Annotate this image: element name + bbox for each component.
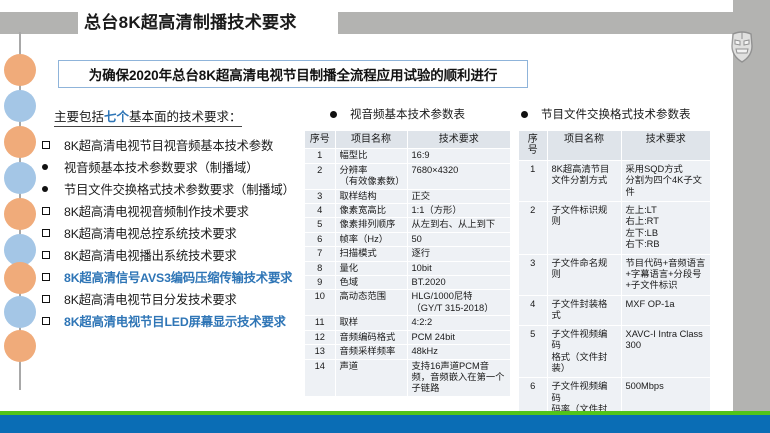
table-row: 12音频编码格式PCM 24bit <box>305 330 510 344</box>
cell-index: 11 <box>305 316 335 330</box>
cell-item-name: 取样结构 <box>335 189 407 203</box>
cell-index: 2 <box>519 202 547 255</box>
square-bullet-icon <box>42 229 64 237</box>
list-item[interactable]: 8K超高清信号AVS3编码压缩传输技术要求 <box>42 266 304 288</box>
square-bullet-icon <box>42 207 64 215</box>
table-row: 14声道支持16声道PCM音频，音频嵌入在第一个子链路 <box>305 359 510 396</box>
col-header: 序号 <box>305 131 335 149</box>
cell-index: 7 <box>305 247 335 261</box>
table-row: 10高动态范围HLG/1000尼特 （GY/T 315-2018） <box>305 290 510 316</box>
cell-item-name: 分辨率 （有效像素数） <box>335 163 407 189</box>
chain-circle-5 <box>4 198 36 230</box>
square-bullet-icon <box>42 141 64 149</box>
cell-item-name: 取样 <box>335 316 407 330</box>
header-bar-right <box>338 12 733 34</box>
bullet-list: 8K超高清电视节目视音频基本技术参数 视音频基本技术参数要求（制播域） 节目文件… <box>42 134 304 332</box>
cell-index: 6 <box>305 232 335 246</box>
statement-text: 为确保2020年总台8K超高清电视节目制播全流程应用试验的顺利进行 <box>59 61 527 87</box>
cell-item-name: 帧率（Hz） <box>335 232 407 246</box>
table-row: 4像素宽高比1:1（方形） <box>305 204 510 218</box>
cell-item-name: 量化 <box>335 261 407 275</box>
cell-item-name: 子文件标识规则 <box>547 202 621 255</box>
dot-bullet-icon <box>42 186 64 192</box>
table-row: 11取样4:2:2 <box>305 316 510 330</box>
cell-index: 13 <box>305 345 335 359</box>
cell-index: 3 <box>305 189 335 203</box>
table-header-row: 序号 项目名称 技术要求 <box>519 131 710 160</box>
cell-requirement: MXF OP-1a <box>621 295 710 325</box>
list-item[interactable]: 8K超高清电视节目LED屏幕显示技术要求 <box>42 310 304 332</box>
list-item-label: 节目文件交换格式技术参数要求（制播域） <box>64 180 295 198</box>
statement-box: 为确保2020年总台8K超高清电视节目制播全流程应用试验的顺利进行 <box>58 60 528 88</box>
cell-item-name: 音频采样频率 <box>335 345 407 359</box>
cell-index: 14 <box>305 359 335 396</box>
cell-requirement: BT.2020 <box>407 276 510 290</box>
table-row: 3取样结构正交 <box>305 189 510 203</box>
cell-index: 1 <box>305 149 335 163</box>
list-item-label: 8K超高清电视播出系统技术要求 <box>64 246 237 264</box>
chain-circle-9 <box>4 330 36 362</box>
list-item[interactable]: 8K超高清电视视音频制作技术要求 <box>42 200 304 222</box>
cell-item-name: 子文件封装格式 <box>547 295 621 325</box>
cell-index: 4 <box>305 204 335 218</box>
header-bar-left <box>0 12 78 34</box>
cell-item-name: 声道 <box>335 359 407 396</box>
table-row: 7扫描模式逐行 <box>305 247 510 261</box>
right-table: 序号 项目名称 技术要求 18K超高清节目 文件分割方式采用SQD方式 分割为四… <box>519 131 710 431</box>
list-item-label: 8K超高清电视节目视音频基本技术参数 <box>64 136 273 154</box>
cell-index: 10 <box>305 290 335 316</box>
right-table-caption: 节目文件交换格式技术参数表 <box>521 106 691 122</box>
lead-suffix: 基本面的技术要求： <box>129 110 242 124</box>
footer-blue-bar <box>0 415 770 433</box>
list-item-label: 8K超高清信号AVS3编码压缩传输技术要求 <box>64 268 292 286</box>
cell-requirement: 1:1（方形） <box>407 204 510 218</box>
chain-circle-3 <box>4 126 36 158</box>
table-row: 2子文件标识规则左上:LT 右上:RT 左下:LB 右下:RB <box>519 202 710 255</box>
slide-canvas: 总台8K超高清制播技术要求 为确保2020年总台8K超高清电视节目制播全流程应用… <box>0 0 770 433</box>
cell-requirement: PCM 24bit <box>407 330 510 344</box>
iron-mask-icon <box>726 28 758 64</box>
dot-bullet-icon <box>42 164 64 170</box>
table-row: 5像素排列顺序从左到右、从上到下 <box>305 218 510 232</box>
col-header: 技术要求 <box>407 131 510 149</box>
table-row: 18K超高清节目 文件分割方式采用SQD方式 分割为四个4K子文件 <box>519 160 710 201</box>
square-bullet-icon <box>42 295 64 303</box>
cell-item-name: 8K超高清节目 文件分割方式 <box>547 160 621 201</box>
list-item[interactable]: 节目文件交换格式技术参数要求（制播域） <box>42 178 304 200</box>
col-header: 序号 <box>519 131 547 160</box>
chain-circle-2 <box>4 90 36 122</box>
cell-index: 5 <box>519 325 547 378</box>
list-item-label: 8K超高清电视节目分发技术要求 <box>64 290 237 308</box>
mid-table: 序号 项目名称 技术要求 1幅型比16:92分辨率 （有效像素数）7680×43… <box>305 131 510 397</box>
table-row: 3子文件命名规则节目代码+音频语言+字幕语言+分段号+子文件标识 <box>519 254 710 295</box>
table-row: 1幅型比16:9 <box>305 149 510 163</box>
table-row: 2分辨率 （有效像素数）7680×4320 <box>305 163 510 189</box>
col-header: 技术要求 <box>621 131 710 160</box>
table-row: 13音频采样频率48kHz <box>305 345 510 359</box>
cell-index: 9 <box>305 276 335 290</box>
cell-index: 12 <box>305 330 335 344</box>
cell-requirement: 从左到右、从上到下 <box>407 218 510 232</box>
square-bullet-icon <box>42 317 64 325</box>
cell-item-name: 像素排列顺序 <box>335 218 407 232</box>
cell-index: 4 <box>519 295 547 325</box>
cell-item-name: 音频编码格式 <box>335 330 407 344</box>
cell-item-name: 扫描模式 <box>335 247 407 261</box>
table-header-row: 序号 项目名称 技术要求 <box>305 131 510 149</box>
cell-requirement: 正交 <box>407 189 510 203</box>
cell-requirement: 采用SQD方式 分割为四个4K子文件 <box>621 160 710 201</box>
cell-item-name: 色域 <box>335 276 407 290</box>
cell-index: 3 <box>519 254 547 295</box>
col-header: 项目名称 <box>547 131 621 160</box>
cell-requirement: 7680×4320 <box>407 163 510 189</box>
mid-table-caption: 视音频基本技术参数表 <box>330 106 465 122</box>
lead-highlight: 七个 <box>104 110 129 124</box>
list-item-label: 8K超高清电视总控系统技术要求 <box>64 224 237 242</box>
cell-requirement: 支持16声道PCM音频，音频嵌入在第一个子链路 <box>407 359 510 396</box>
cell-requirement: 4:2:2 <box>407 316 510 330</box>
cell-requirement: XAVC-I Intra Class 300 <box>621 325 710 378</box>
mid-table-caption-label: 视音频基本技术参数表 <box>350 106 465 122</box>
cell-index: 2 <box>305 163 335 189</box>
chain-circle-7 <box>4 262 36 294</box>
cell-requirement: 48kHz <box>407 345 510 359</box>
list-item-label: 8K超高清电视视音频制作技术要求 <box>64 202 249 220</box>
list-item-label: 8K超高清电视节目LED屏幕显示技术要求 <box>64 312 286 330</box>
cell-item-name: 高动态范围 <box>335 290 407 316</box>
list-item[interactable]: 8K超高清电视总控系统技术要求 <box>42 222 304 244</box>
cell-item-name: 幅型比 <box>335 149 407 163</box>
list-item[interactable]: 8K超高清电视播出系统技术要求 <box>42 244 304 266</box>
chain-circle-1 <box>4 54 36 86</box>
table-row: 4子文件封装格式MXF OP-1a <box>519 295 710 325</box>
table-row: 8量化10bit <box>305 261 510 275</box>
lead-prefix: 主要包括 <box>54 110 104 124</box>
cell-requirement: 逐行 <box>407 247 510 261</box>
page-title: 总台8K超高清制播技术要求 <box>84 10 344 36</box>
list-item[interactable]: 视音频基本技术参数要求（制播域） <box>42 156 304 178</box>
cell-requirement: HLG/1000尼特 （GY/T 315-2018） <box>407 290 510 316</box>
list-item[interactable]: 8K超高清电视节目视音频基本技术参数 <box>42 134 304 156</box>
cell-requirement: 左上:LT 右上:RT 左下:LB 右下:RB <box>621 202 710 255</box>
cell-requirement: 10bit <box>407 261 510 275</box>
right-table-caption-label: 节目文件交换格式技术参数表 <box>541 106 691 122</box>
col-header: 项目名称 <box>335 131 407 149</box>
table-row: 9色域BT.2020 <box>305 276 510 290</box>
square-bullet-icon <box>42 251 64 259</box>
cell-item-name: 子文件视频编码 格式（文件封装） <box>547 325 621 378</box>
square-bullet-icon <box>42 273 64 281</box>
cell-index: 5 <box>305 218 335 232</box>
cell-requirement: 50 <box>407 232 510 246</box>
cell-requirement: 16:9 <box>407 149 510 163</box>
dot-bullet-icon <box>521 111 528 118</box>
dot-bullet-icon <box>330 111 337 118</box>
table-row: 6帧率（Hz）50 <box>305 232 510 246</box>
lead-line: 主要包括七个基本面的技术要求： <box>54 106 242 127</box>
cell-index: 8 <box>305 261 335 275</box>
cell-item-name: 像素宽高比 <box>335 204 407 218</box>
chain-circle-8 <box>4 296 36 328</box>
list-item[interactable]: 8K超高清电视节目分发技术要求 <box>42 288 304 310</box>
table-row: 5子文件视频编码 格式（文件封装）XAVC-I Intra Class 300 <box>519 325 710 378</box>
cell-index: 1 <box>519 160 547 201</box>
cell-item-name: 子文件命名规则 <box>547 254 621 295</box>
chain-circle-4 <box>4 162 36 194</box>
cell-requirement: 节目代码+音频语言+字幕语言+分段号+子文件标识 <box>621 254 710 295</box>
list-item-label: 视音频基本技术参数要求（制播域） <box>64 158 258 176</box>
